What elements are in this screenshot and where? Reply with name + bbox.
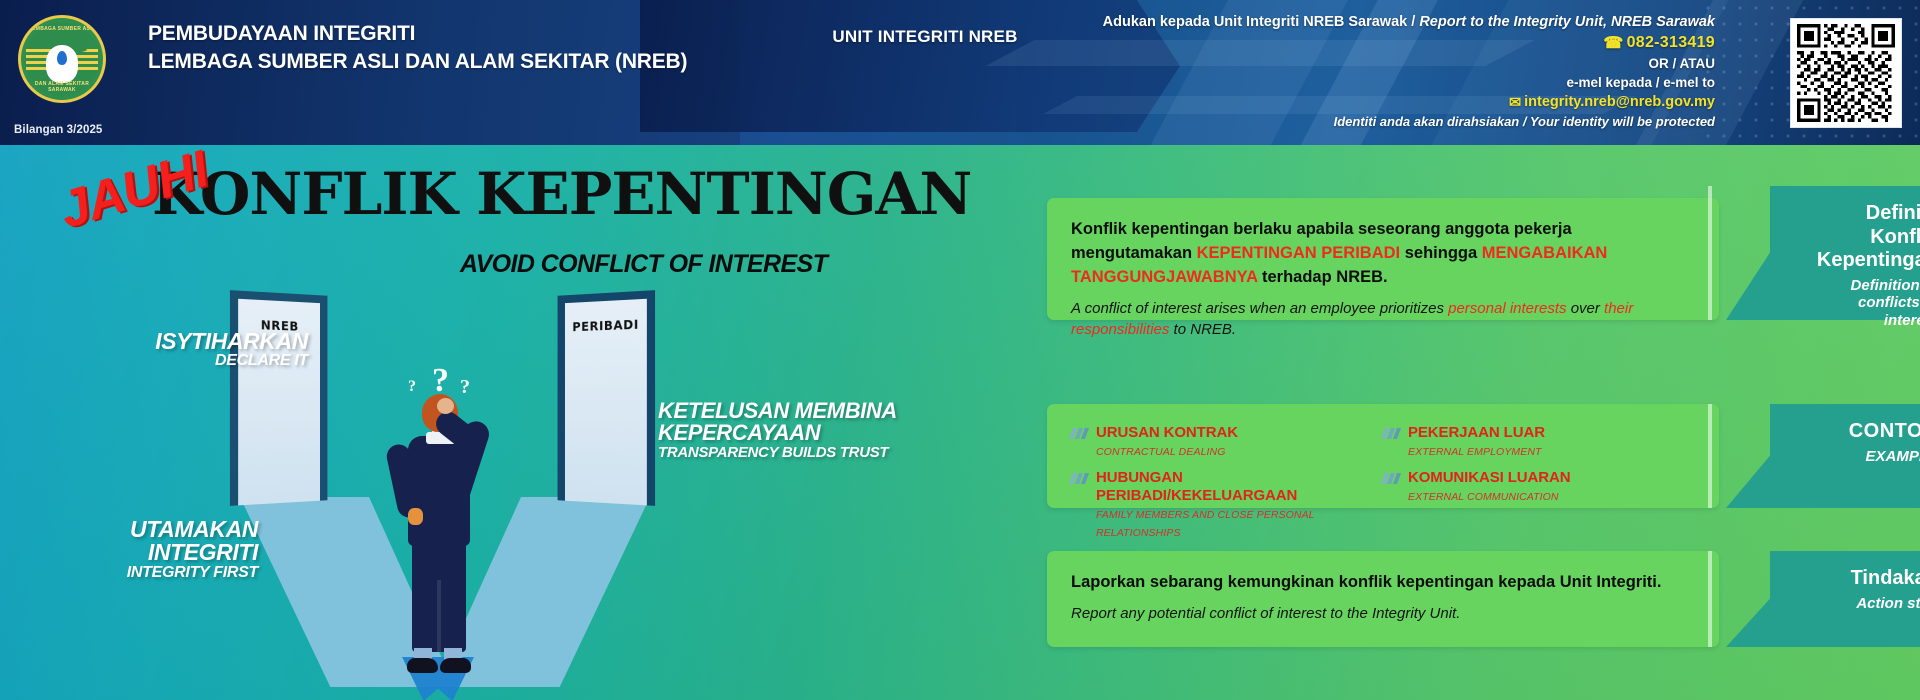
example-item: HUBUNGAN PERIBADI/KEKELUARGAAN FAMILY ME… (1071, 469, 1383, 541)
example-label-my: KOMUNIKASI LUARAN (1408, 469, 1570, 486)
header-unit-title: UNIT INTEGRITI NREB (760, 27, 1090, 47)
hero-subtitle: AVOID CONFLICT OF INTEREST (460, 250, 827, 279)
report-line: Adukan kepada Unit Integriti NREB Sarawa… (1075, 12, 1715, 32)
action-text-my: Laporkan sebarang kemungkinan konflik ke… (1071, 571, 1695, 595)
example-label-my: HUBUNGAN PERIBADI/KEKELUARGAAN (1096, 469, 1297, 504)
definition-my-part3: terhadap NREB. (1257, 268, 1387, 286)
qr-code[interactable] (1790, 18, 1902, 128)
door-nreb: NREB (230, 290, 328, 506)
caption-declare-my: ISYTIHARKAN (108, 330, 308, 353)
speed-lines-icon (1381, 473, 1401, 484)
question-mark-icon: ? (408, 378, 416, 396)
tab-definisi-my: Definisi Konflik Kepentingan (1800, 202, 1920, 273)
tab-contoh-my: CONTOH (1800, 420, 1920, 444)
infographic-poster: LEMBAGA SUMBER ASLI DAN ALAM SEKITAR SAR… (0, 0, 1920, 700)
tab-tindakan-my: Tindakan (1800, 567, 1920, 591)
example-label-my: URUSAN KONTRAK (1096, 424, 1238, 441)
report-line-my: Adukan kepada Unit Integriti NREB Sarawa… (1103, 14, 1420, 30)
speed-lines-icon (1069, 428, 1089, 439)
definition-en-highlight1: personal interests (1448, 300, 1566, 317)
example-label-en: CONTRACTUAL DEALING (1096, 446, 1225, 458)
caption-transparency-my: KETELUSAN MEMBINA KEPERCAYAAN (658, 400, 918, 445)
caption-transparency: KETELUSAN MEMBINA KEPERCAYAAN TRANSPAREN… (658, 400, 918, 460)
definition-my-highlight1: KEPENTINGAN PERIBADI (1197, 244, 1401, 262)
org-line-1: PEMBUDAYAAN INTEGRITI (148, 20, 687, 48)
definition-text-my: Konflik kepentingan berlaku apabila sese… (1071, 218, 1695, 290)
example-item: URUSAN KONTRAK CONTRACTUAL DEALING (1071, 424, 1383, 460)
door-peribadi: PERIBADI (558, 290, 656, 506)
contact-block: Adukan kepada Unit Integriti NREB Sarawa… (1075, 12, 1715, 131)
question-mark-icon: ? (460, 376, 470, 399)
phone-icon: ☎ (1603, 33, 1623, 55)
logo-text-top: LEMBAGA SUMBER ASLI (21, 26, 103, 32)
definition-en-part2: over (1567, 300, 1605, 317)
definition-text-en: A conflict of interest arises when an em… (1071, 298, 1695, 340)
panel-action: Laporkan sebarang kemungkinan konflik ke… (1047, 551, 1719, 647)
phone-number: 082-313419 (1627, 34, 1715, 51)
speed-lines-icon (1381, 428, 1401, 439)
panel-examples: URUSAN KONTRAK CONTRACTUAL DEALING HUBUN… (1047, 404, 1719, 508)
tab-contoh: CONTOH EXAMPLE (1770, 404, 1920, 508)
tab-definisi-en: Definition of conflicts of interest (1800, 277, 1920, 330)
report-line-en: Report to the Integrity Unit, NREB Saraw… (1419, 14, 1715, 30)
phone-line[interactable]: ☎082-313419 (1075, 32, 1715, 55)
email-address: integrity.nreb@nreb.gov.my (1524, 94, 1715, 110)
nreb-logo: LEMBAGA SUMBER ASLI DAN ALAM SEKITAR SAR… (18, 15, 106, 103)
privacy-note: Identiti anda akan dirahsiakan / Your id… (1075, 113, 1715, 131)
panel-definition: Konflik kepentingan berlaku apabila sese… (1047, 198, 1719, 320)
confused-person-figure: ? ? ? (382, 380, 492, 680)
org-line-2: LEMBAGA SUMBER ASLI DAN ALAM SEKITAR (NR… (148, 48, 687, 76)
tab-tindakan-en: Action step (1800, 595, 1920, 613)
header-org-title: PEMBUDAYAAN INTEGRITI LEMBAGA SUMBER ASL… (148, 20, 687, 75)
definition-en-part3: to NREB. (1169, 321, 1236, 338)
caption-integrity-en: INTEGRITY FIRST (28, 565, 258, 581)
definition-en-part1: A conflict of interest arises when an em… (1071, 300, 1448, 317)
or-separator: OR / ATAU (1075, 55, 1715, 74)
issue-number: Bilangan 3/2025 (14, 124, 102, 136)
caption-integrity-first: UTAMAKAN INTEGRITI INTEGRITY FIRST (28, 518, 258, 581)
hero-title: KONFLIK KEPENTINGAN (152, 160, 971, 228)
example-label-en: EXTERNAL EMPLOYMENT (1408, 446, 1542, 458)
action-text-en: Report any potential conflict of interes… (1071, 603, 1695, 624)
caption-declare-en: DECLARE IT (108, 353, 308, 369)
tab-tindakan: Tindakan Action step (1770, 551, 1920, 647)
email-label: e-mel kepada / e-mel to (1075, 74, 1715, 93)
caption-integrity-my: UTAMAKAN INTEGRITI (28, 518, 258, 565)
example-item: PEKERJAAN LUAR EXTERNAL EMPLOYMENT (1383, 424, 1695, 460)
mail-icon: ✉ (1509, 93, 1521, 113)
example-label-en: FAMILY MEMBERS AND CLOSE PERSONAL RELATI… (1096, 509, 1314, 539)
example-label-my: PEKERJAAN LUAR (1408, 424, 1545, 441)
caption-declare: ISYTIHARKAN DECLARE IT (108, 330, 308, 370)
caption-transparency-en: TRANSPARENCY BUILDS TRUST (658, 445, 918, 460)
header-bar: LEMBAGA SUMBER ASLI DAN ALAM SEKITAR SAR… (0, 0, 1920, 145)
tab-contoh-en: EXAMPLE (1800, 448, 1920, 466)
example-label-en: EXTERNAL COMMUNICATION (1408, 491, 1559, 503)
definition-my-part2: sehingga (1400, 244, 1482, 262)
tab-definisi: Definisi Konflik Kepentingan Definition … (1770, 186, 1920, 320)
email-line[interactable]: ✉integrity.nreb@nreb.gov.my (1075, 92, 1715, 113)
logo-text-bottom: DAN ALAM SEKITAR SARAWAK (21, 81, 103, 93)
examples-column-right: PEKERJAAN LUAR EXTERNAL EMPLOYMENT KOMUN… (1383, 424, 1695, 550)
speed-lines-icon (1069, 473, 1089, 484)
examples-column-left: URUSAN KONTRAK CONTRACTUAL DEALING HUBUN… (1071, 424, 1383, 550)
example-item: KOMUNIKASI LUARAN EXTERNAL COMMUNICATION (1383, 469, 1695, 505)
